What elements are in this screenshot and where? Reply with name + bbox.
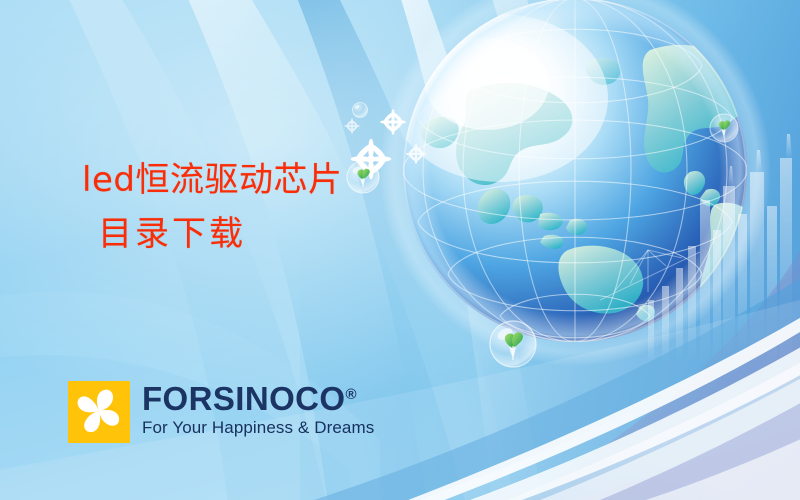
bubble-small (353, 103, 368, 118)
logo-wordmark: FORSINOCO® (142, 382, 374, 415)
logo-tagline: For Your Happiness & Dreams (142, 418, 374, 438)
pinwheel-flower-icon (68, 381, 130, 443)
logo-text-block: FORSINOCO® For Your Happiness & Dreams (142, 381, 374, 438)
banner-image: led恒流驱动芯片 目录下载 FORSINOCO® For Your Happi… (0, 0, 800, 500)
bubble-right (710, 114, 738, 142)
registered-trademark-icon: ® (345, 386, 356, 403)
company-logo[interactable]: FORSINOCO® For Your Happiness & Dreams (68, 381, 374, 443)
bubble-mid (347, 161, 379, 193)
logo-wordmark-text: FORSINOCO (142, 380, 345, 417)
bubble-large (490, 321, 536, 367)
logo-mark-icon (68, 381, 130, 443)
